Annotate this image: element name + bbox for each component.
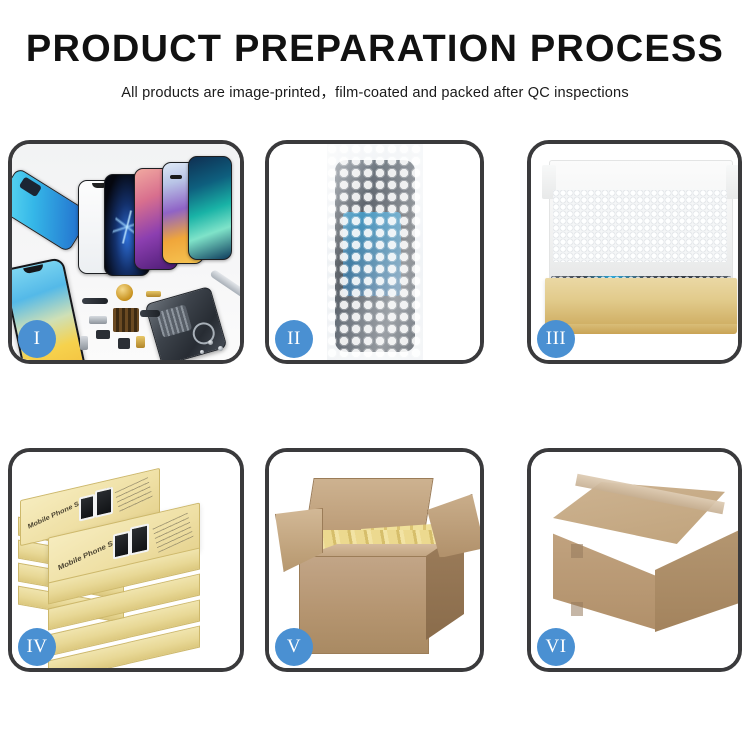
button-flex-icon xyxy=(80,336,88,350)
page-header: PRODUCT PREPARATION PROCESS All products… xyxy=(0,0,750,102)
carton-front-icon xyxy=(299,556,429,654)
flex-cable-icon xyxy=(82,298,108,304)
box-print-screen-image xyxy=(79,494,95,522)
screw-icon xyxy=(208,340,213,345)
chip-grid-icon xyxy=(113,308,139,332)
step-panel-6[interactable]: VI xyxy=(527,448,742,672)
box-print-screen-image xyxy=(130,523,149,555)
tape-tab-icon xyxy=(571,602,583,616)
page-title: PRODUCT PREPARATION PROCESS xyxy=(0,30,750,70)
step-panel-1[interactable]: I xyxy=(8,140,244,364)
screw-icon xyxy=(218,346,223,351)
step-badge-1: I xyxy=(18,320,56,358)
step-panel-5[interactable]: V xyxy=(265,448,484,672)
tweezers-icon xyxy=(209,269,240,299)
step-badge-5: V xyxy=(275,628,313,666)
camera-module-icon xyxy=(118,338,130,349)
gold-speaker-icon xyxy=(116,284,133,301)
metal-bracket-icon xyxy=(89,316,107,324)
step-panel-2[interactable]: II xyxy=(265,140,484,364)
step-panel-4[interactable]: Mobile Phone Spare Parts Mobile Phone Sp… xyxy=(8,448,244,672)
step-badge-4: IV xyxy=(18,628,56,666)
box-print-spec-lines xyxy=(153,513,194,553)
sim-tray-icon xyxy=(136,336,145,348)
step-badge-6: VI xyxy=(537,628,575,666)
screw-icon xyxy=(200,350,204,354)
page-subtitle: All products are image-printed，film-coat… xyxy=(0,81,750,102)
box-print-spec-lines xyxy=(115,477,154,514)
teal-gradient-screen-icon xyxy=(188,156,232,260)
tape-tab-icon xyxy=(571,544,583,558)
box-print-screen-image xyxy=(95,487,113,518)
flex-cable-icon xyxy=(140,310,160,317)
kraft-tray-icon xyxy=(545,278,737,326)
connector-icon xyxy=(146,291,161,297)
foam-liner-icon xyxy=(553,190,727,262)
plastic-sheen xyxy=(327,144,423,360)
step-badge-3: III xyxy=(537,320,575,358)
step-badge-2: II xyxy=(275,320,313,358)
box-print-screen-image xyxy=(113,531,130,560)
process-step-grid: I II III xyxy=(0,0,750,750)
step-panel-3[interactable]: III xyxy=(527,140,742,364)
small-chip-icon xyxy=(96,330,110,339)
